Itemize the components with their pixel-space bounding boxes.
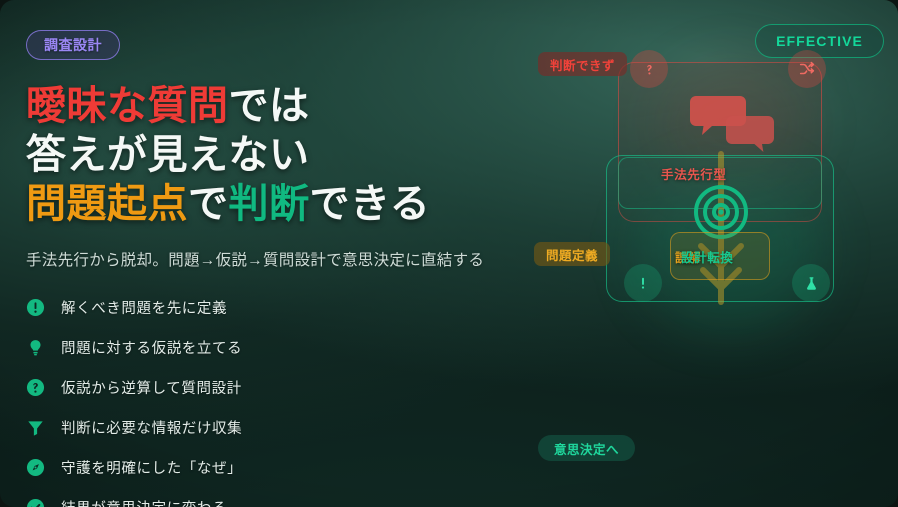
label-method-first: 手法先行型 [661,164,727,183]
chip-shuffle[interactable] [788,50,826,88]
headline-segment: できる [310,181,431,226]
list-item: 仮説から逆算して質問設計 [26,372,546,402]
list-item: 結果が意思決定に変わる [26,492,546,507]
list-item: 守護を明確にした「なぜ」 [26,452,546,482]
question-mark-icon [641,61,658,78]
flask-icon [803,275,820,292]
headline-segment: では [229,83,310,128]
left-content-column: 調査設計 曖昧な質問では 答えが見えない 問題起点で判断できる 手法先行から脱却… [26,30,546,507]
list-item-label: 問題に対する仮説を立てる [61,337,242,358]
headline-segment: 判断 [229,181,310,226]
list-item: 解くべき問題を先に定義 [26,292,546,322]
headline-line-3: 問題起点で判断できる [26,180,546,229]
status-badge-effective[interactable]: EFFECTIVE [755,24,884,58]
list-item-label: 結果が意思決定に変わる [61,497,227,507]
page-title: 曖昧な質問では 答えが見えない 問題起点で判断できる [26,82,546,228]
chip-flask[interactable] [792,264,830,302]
kicker-badge[interactable]: 調査設計 [26,30,120,60]
list-item-label: 仮説から逆算して質問設計 [61,377,242,398]
chip-question[interactable] [630,50,668,88]
list-item: 判断に必要な情報だけ収集 [26,412,546,442]
headline-line-2: 答えが見えない [26,131,546,180]
compass-icon [26,458,45,477]
slide-canvas: 調査設計 曖昧な質問では 答えが見えない 問題起点で判断できる 手法先行から脱却… [0,0,898,507]
exclamation-icon [635,275,651,291]
shuffle-icon [798,60,816,78]
check-circle-icon [26,498,45,507]
chip-exclamation[interactable] [624,264,662,302]
list-item-label: 守護を明確にした「なぜ」 [61,457,242,478]
tag-to-decision[interactable]: 意思決定へ [538,435,635,461]
headline-segment: 問題起点 [26,181,188,226]
funnel-filter-icon [26,418,45,437]
list-item-label: 解くべき問題を先に定義 [61,297,227,318]
lightbulb-icon [26,338,45,357]
list-item-label: 判断に必要な情報だけ収集 [61,417,242,438]
headline-segment: 曖昧な質問 [26,83,229,128]
headline-segment: 答えが見えない [26,132,310,177]
list-item: 問題に対する仮説を立てる [26,332,546,362]
label-design-shift: 設計転換 [681,247,733,266]
exclamation-circle-icon [26,298,45,317]
subtitle: 手法先行から脱却。問題→仮説→質問設計で意思決定に直結する [26,248,546,270]
right-visual-panel: EFFECTIVE [520,0,898,507]
bullet-list: 解くべき問題を先に定義 問題に対する仮説を立てる [26,292,546,507]
headline-line-1: 曖昧な質問では [26,82,546,131]
question-circle-icon [26,378,45,397]
headline-segment: で [188,181,229,226]
speech-bubbles-icon [690,92,776,154]
tag-cannot-judge[interactable]: 判断できず [538,52,627,76]
